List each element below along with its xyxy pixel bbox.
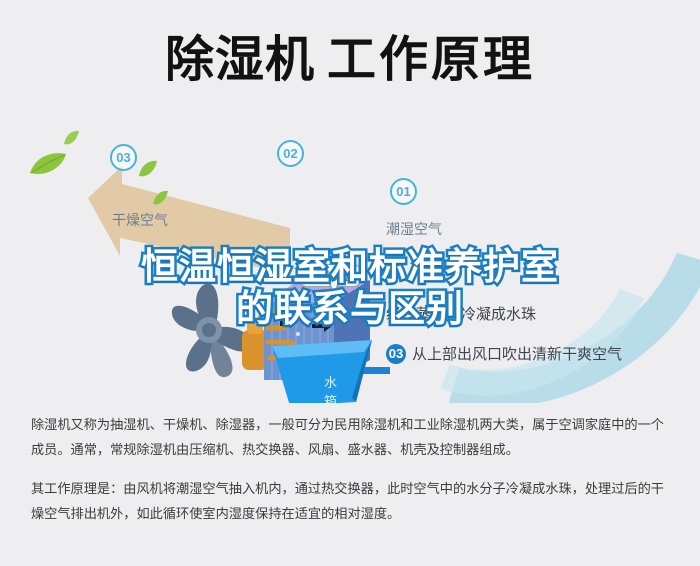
- heat-exchanger-callout: 热交换器: [298, 264, 362, 287]
- dehumidifier-diagram: 水箱 03 干燥空气 02 热交换器 01 潮湿空气 02 经过蒸发器冷凝成水珠…: [0, 118, 700, 403]
- page-title-part2: 工作原理: [327, 31, 535, 88]
- moist-air-label: 潮湿空气: [386, 219, 442, 239]
- page-root: 除湿机工作原理: [0, 0, 700, 566]
- article-paragraph-2: 其工作原理是：由风机将潮湿空气抽入机内，通过热交换器，此时空气中的水分子冷凝成水…: [31, 477, 673, 527]
- dry-air-arrow-icon: [58, 164, 290, 282]
- caption-text-02: 经过蒸发器冷凝成水珠: [386, 303, 536, 324]
- leaf-icon: [152, 190, 169, 206]
- caption-text-03: 从上部出风口吹出清新干爽空气: [412, 343, 622, 364]
- step-badge-03: 03: [110, 144, 137, 171]
- leaf-icon: [63, 130, 80, 146]
- page-header: 除湿机工作原理: [0, 0, 700, 118]
- caption-badge-02: 02: [360, 304, 380, 324]
- water-tank-label: 水箱: [324, 372, 337, 403]
- step-badge-01: 01: [390, 178, 417, 205]
- water-tank-icon: [268, 336, 376, 403]
- leaf-icon: [28, 151, 68, 177]
- page-title: 除湿机工作原理: [165, 35, 535, 84]
- dry-air-label: 干燥空气: [112, 210, 168, 230]
- caption-row-02: 02 经过蒸发器冷凝成水珠: [360, 303, 536, 324]
- leaf-icon: [138, 160, 158, 178]
- callout-tail-icon: [328, 282, 340, 298]
- article-paragraph-1: 除湿机又称为抽湿机、干燥机、除湿器，一般可分为民用除湿机和工业除湿机两大类，属于…: [31, 413, 673, 463]
- page-title-part1: 除湿机: [165, 31, 315, 88]
- caption-badge-03: 03: [386, 344, 406, 364]
- article-body: 除湿机又称为抽湿机、干燥机、除湿器，一般可分为民用除湿机和工业除湿机两大类，属于…: [31, 413, 673, 541]
- step-badge-02: 02: [277, 140, 304, 167]
- caption-row-03: 03 从上部出风口吹出清新干爽空气: [386, 343, 622, 364]
